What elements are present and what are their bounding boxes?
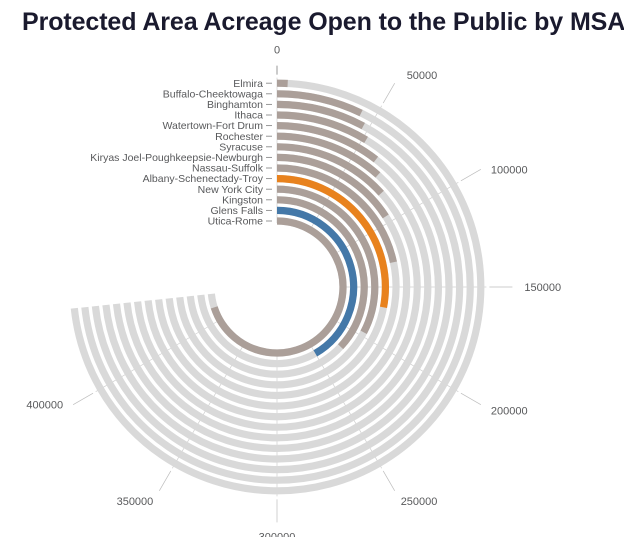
axis-tick-label: 100000 bbox=[491, 164, 528, 176]
category-label-utica-rome: Utica-Rome bbox=[208, 216, 264, 228]
axis-tickmark bbox=[383, 83, 395, 103]
axis-tickmark bbox=[159, 471, 171, 491]
radial-bar-chart: Protected Area Acreage Open to the Publi… bbox=[0, 0, 624, 537]
axis-tick-label: 350000 bbox=[117, 496, 154, 508]
axis-tick-label: 250000 bbox=[401, 496, 438, 508]
axis-tick-label: 300000 bbox=[259, 531, 296, 537]
axis-tick-label: 400000 bbox=[26, 400, 63, 412]
bar-utica-rome[interactable] bbox=[214, 221, 343, 353]
category-label-layer: ElmiraBuffalo-CheektowagaBinghamtonIthac… bbox=[90, 78, 272, 228]
chart-canvas: 0500001000001500002000002500003000003500… bbox=[0, 0, 624, 537]
axis-tick-label: 0 bbox=[274, 45, 280, 57]
axis-tickmark bbox=[461, 169, 481, 181]
axis-tick-label: 50000 bbox=[407, 70, 438, 82]
axis-tick-label: 150000 bbox=[524, 282, 561, 294]
axis-tickmark bbox=[73, 393, 93, 405]
axis-tick-label: 200000 bbox=[491, 406, 528, 418]
axis-tickmark bbox=[461, 393, 481, 405]
axis-tickmark bbox=[383, 471, 395, 491]
